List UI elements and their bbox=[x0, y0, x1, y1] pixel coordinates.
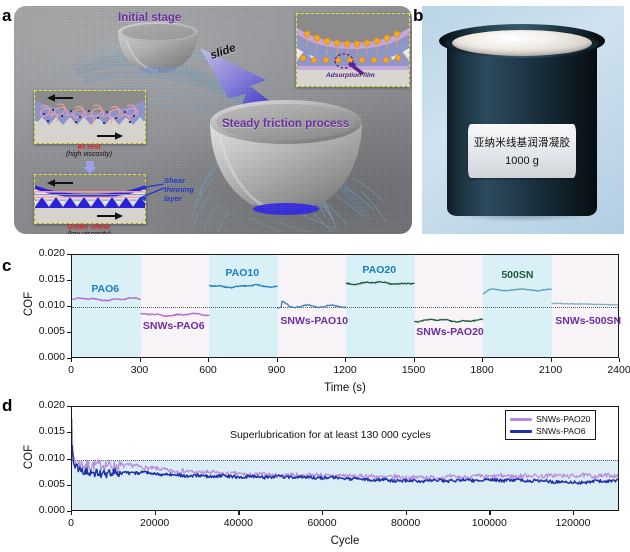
legend-swatch bbox=[510, 418, 532, 421]
panel-c-plot-area bbox=[71, 254, 619, 358]
x-tick-mark bbox=[573, 511, 574, 515]
series-line bbox=[346, 282, 415, 285]
x-tick-label: 600 bbox=[186, 364, 230, 376]
y-tick-mark bbox=[67, 254, 71, 255]
x-tick-mark bbox=[482, 358, 483, 362]
x-tick-label: 1800 bbox=[460, 364, 504, 376]
y-tick-mark bbox=[67, 306, 71, 307]
y-tick-label: 0.000 bbox=[21, 351, 65, 363]
inset-at-rest bbox=[34, 90, 146, 144]
legend-item[interactable]: SNWs-PAO20 bbox=[510, 414, 590, 424]
x-tick-label: 1500 bbox=[392, 364, 436, 376]
caption-at-rest: At rest (high viscosity) bbox=[34, 143, 144, 159]
panel-d-letter: d bbox=[2, 396, 12, 416]
panel-c-chart: PAO6SNWs-PAO6PAO10SNWs-PAO10PAO20SNWs-PA… bbox=[0, 246, 630, 392]
jar-label: 亚纳米线基润滑凝胶 1000 g bbox=[468, 124, 576, 178]
x-tick-label: 0 bbox=[49, 364, 93, 376]
legend-swatch bbox=[510, 430, 532, 433]
label-steady-friction: Steady friction process bbox=[222, 118, 349, 130]
x-tick-label: 0 bbox=[41, 517, 101, 529]
caption-under-shear: Under shear (low viscosity) bbox=[34, 223, 144, 234]
x-tick-mark bbox=[71, 511, 72, 515]
panel-d-legend: SNWs-PAO20 SNWs-PAO6 bbox=[505, 410, 596, 440]
y-tick-label: 0.005 bbox=[21, 325, 65, 337]
panel-d-chart: Superlubrication for at least 130 000 cy… bbox=[0, 392, 630, 552]
y-tick-label: 0.005 bbox=[21, 478, 65, 490]
shear-thinning-leader-lines bbox=[126, 180, 166, 204]
x-tick-label: 100000 bbox=[459, 517, 519, 529]
x-tick-label: 20000 bbox=[125, 517, 185, 529]
series-line bbox=[278, 301, 347, 308]
down-arrow-icon bbox=[82, 161, 98, 175]
label-shear-l1: Shear bbox=[164, 176, 185, 185]
x-tick-mark bbox=[414, 358, 415, 362]
jar-label-chinese-text: 亚纳米线基润滑凝胶 bbox=[474, 135, 570, 150]
y-tick-mark bbox=[67, 485, 71, 486]
y-tick-label: 0.020 bbox=[21, 399, 65, 411]
x-tick-label: 40000 bbox=[208, 517, 268, 529]
y-tick-label: 0.020 bbox=[21, 247, 65, 259]
x-tick-mark bbox=[345, 358, 346, 362]
series-label-pao6: PAO6 bbox=[91, 283, 119, 295]
panel-b-photo: 亚纳米线基润滑凝胶 1000 g bbox=[422, 6, 624, 234]
x-tick-label: 2400 bbox=[597, 364, 630, 376]
series-line bbox=[415, 319, 484, 322]
x-tick-mark bbox=[406, 511, 407, 515]
y-tick-mark bbox=[67, 332, 71, 333]
x-tick-label: 60000 bbox=[292, 517, 352, 529]
x-tick-mark bbox=[551, 358, 552, 362]
x-tick-mark bbox=[71, 358, 72, 362]
panel-b-letter: b bbox=[413, 6, 423, 26]
series-line bbox=[209, 284, 278, 288]
panel-c-letter: c bbox=[2, 256, 11, 276]
y-axis-label: COF bbox=[23, 437, 35, 477]
label-shear-thinning-layer: Shear thinning layer bbox=[164, 177, 194, 204]
series-line bbox=[552, 303, 620, 305]
x-tick-label: 80000 bbox=[376, 517, 436, 529]
series-label-snws-pao10: SNWs-PAO10 bbox=[280, 315, 348, 327]
x-tick-mark bbox=[489, 511, 490, 515]
superlubrication-annotation: Superlubrication for at least 130 000 cy… bbox=[230, 429, 431, 441]
label-initial-stage: Initial stage bbox=[118, 12, 181, 24]
y-tick-label: 0.015 bbox=[21, 425, 65, 437]
label-shear-l3: layer bbox=[164, 194, 182, 203]
caption-under-shear-sub: (low viscosity) bbox=[34, 231, 144, 234]
jar-contents-paste bbox=[452, 30, 592, 56]
x-axis-label: Cycle bbox=[315, 535, 375, 547]
x-tick-label: 2100 bbox=[529, 364, 573, 376]
x-tick-mark bbox=[619, 358, 620, 362]
caption-at-rest-sub: (high viscosity) bbox=[34, 151, 144, 159]
panel-a-schematic: Initial stage Steady friction process sl… bbox=[14, 6, 412, 234]
series-line bbox=[72, 298, 141, 301]
x-tick-mark bbox=[322, 511, 323, 515]
x-tick-label: 1200 bbox=[323, 364, 367, 376]
y-tick-label: 0.000 bbox=[21, 504, 65, 516]
x-tick-label: 300 bbox=[118, 364, 162, 376]
y-tick-mark bbox=[67, 432, 71, 433]
legend-label: SNWs-PAO6 bbox=[536, 426, 586, 436]
x-tick-mark bbox=[155, 511, 156, 515]
y-axis-label: COF bbox=[23, 284, 35, 324]
x-tick-mark bbox=[277, 358, 278, 362]
x-tick-label: 120000 bbox=[543, 517, 603, 529]
series-label-pao10: PAO10 bbox=[225, 267, 259, 279]
series-label-500sn: 500SN bbox=[501, 269, 533, 281]
caption-under-shear-main: Under shear bbox=[34, 223, 144, 231]
y-tick-mark bbox=[67, 459, 71, 460]
legend-label: SNWs-PAO20 bbox=[536, 414, 590, 424]
series-label-pao20: PAO20 bbox=[362, 264, 396, 276]
series-line bbox=[141, 313, 210, 317]
legend-item[interactable]: SNWs-PAO6 bbox=[510, 426, 590, 436]
series-line bbox=[72, 445, 619, 484]
panel-a-letter: a bbox=[2, 6, 11, 26]
x-tick-mark bbox=[238, 511, 239, 515]
label-adsorption-film: Adsorption film bbox=[326, 72, 375, 79]
series-label-snws-500sn: SNWs-500SN bbox=[555, 315, 621, 327]
series-label-snws-pao6: SNWs-PAO6 bbox=[143, 320, 205, 332]
jar-label-weight: 1000 g bbox=[505, 155, 539, 167]
y-tick-mark bbox=[67, 406, 71, 407]
caption-at-rest-main: At rest bbox=[34, 143, 144, 151]
series-line bbox=[483, 289, 552, 295]
panel-c-series-layer bbox=[72, 255, 619, 358]
y-tick-mark bbox=[67, 280, 71, 281]
x-tick-label: 900 bbox=[255, 364, 299, 376]
x-tick-mark bbox=[208, 358, 209, 362]
label-shear-l2: thinning bbox=[164, 185, 194, 194]
x-tick-mark bbox=[140, 358, 141, 362]
at-rest-graphic bbox=[35, 91, 145, 143]
series-label-snws-pao20: SNWs-PAO20 bbox=[416, 326, 484, 338]
